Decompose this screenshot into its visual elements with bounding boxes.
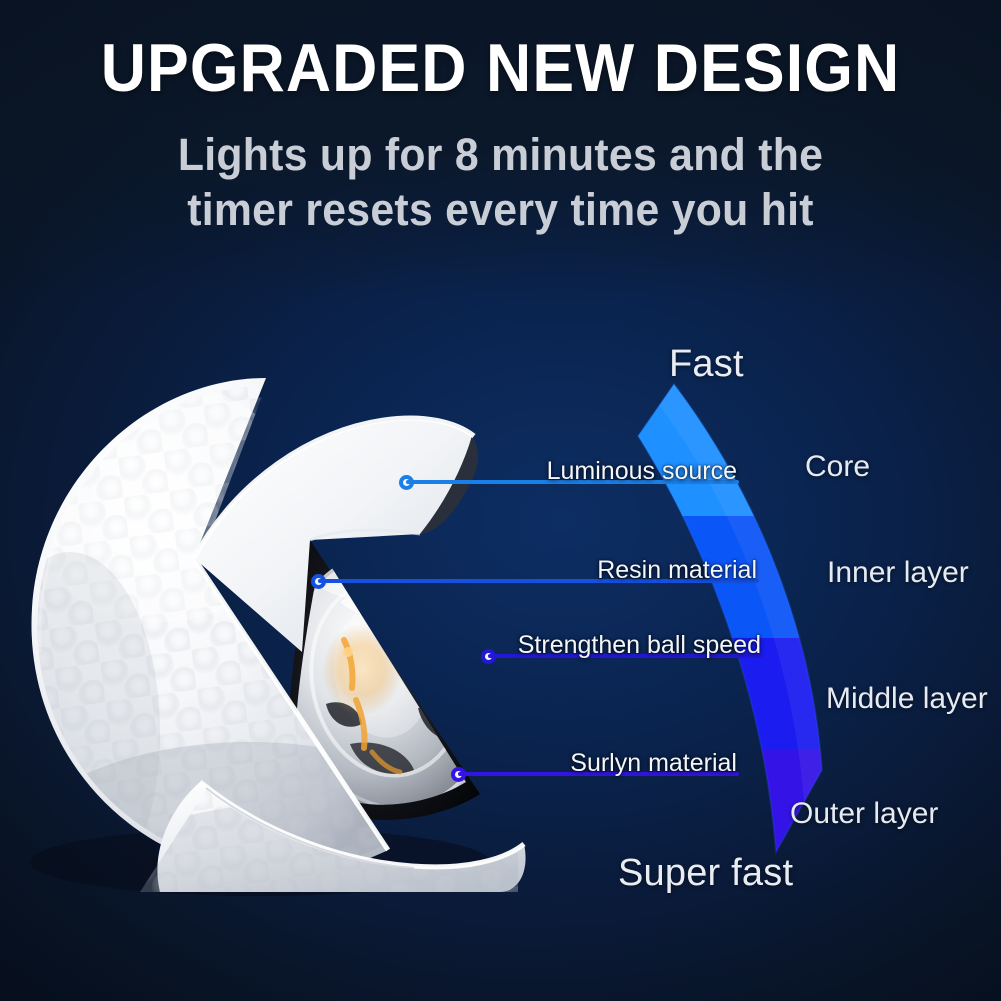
callout-luminous-source: Luminous source xyxy=(399,469,739,495)
callout-label: Luminous source xyxy=(547,459,737,484)
subtitle-block: Lights up for 8 minutes and the timer re… xyxy=(0,128,1001,238)
callout-label: Strengthen ball speed xyxy=(518,633,761,658)
infographic-poster: UPGRADED NEW DESIGN Lights up for 8 minu… xyxy=(0,0,1001,1001)
scale-caption-fast: Fast xyxy=(669,345,744,383)
subtitle-line-2: timer resets every time you hit xyxy=(25,183,976,238)
layer-label-middle: Middle layer xyxy=(826,684,988,714)
subtitle-line-1: Lights up for 8 minutes and the xyxy=(25,128,976,183)
scale-caption-super-fast: Super fast xyxy=(618,854,793,892)
page-title: UPGRADED NEW DESIGN xyxy=(40,34,961,102)
callout-label: Surlyn material xyxy=(570,751,737,776)
golf-ball-illustration xyxy=(10,352,530,892)
layer-label-core: Core xyxy=(805,452,870,482)
callout-label: Resin material xyxy=(597,558,757,583)
callout-strengthen-ball-speed: Strengthen ball speed xyxy=(481,643,763,669)
callout-resin-material: Resin material xyxy=(311,568,759,594)
layer-label-outer: Outer layer xyxy=(790,799,938,829)
layer-label-inner: Inner layer xyxy=(827,558,969,588)
headline-block: UPGRADED NEW DESIGN xyxy=(0,34,1001,102)
callout-surlyn-material: Surlyn material xyxy=(451,761,739,787)
